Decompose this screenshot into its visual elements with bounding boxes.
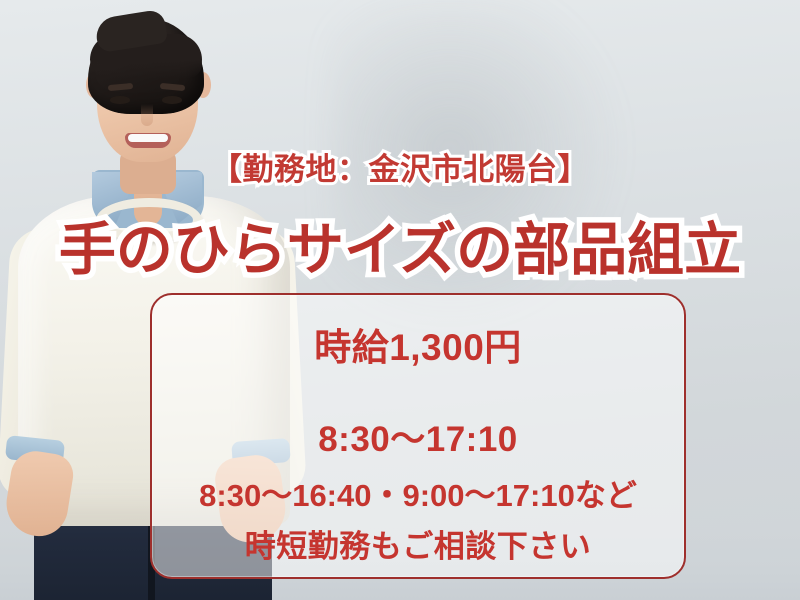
job-details-box: 時給1,300円 8:30〜17:10 8:30〜16:40・9:00〜17:1… — [150, 293, 686, 579]
job-title-headline: 手のひらサイズの部品組立 — [0, 204, 800, 286]
text-overlay: 【勤務地：金沢市北陽台】 手のひらサイズの部品組立 時給1,300円 8:30〜… — [0, 0, 800, 600]
short-time-work-note: 時短勤務もご相談下さい — [245, 521, 592, 566]
primary-working-hours-text: 8:30〜17:10 — [318, 411, 518, 462]
job-details-content: 時給1,300円 8:30〜17:10 8:30〜16:40・9:00〜17:1… — [152, 295, 684, 577]
hourly-wage-text: 時給1,300円 — [314, 317, 522, 371]
job-ad-banner: 【勤務地：金沢市北陽台】 手のひらサイズの部品組立 時給1,300円 8:30〜… — [0, 0, 800, 600]
alternate-working-hours-text: 8:30〜16:40・9:00〜17:10など — [199, 470, 637, 515]
work-location-subtitle: 【勤務地：金沢市北陽台】 — [0, 144, 800, 189]
